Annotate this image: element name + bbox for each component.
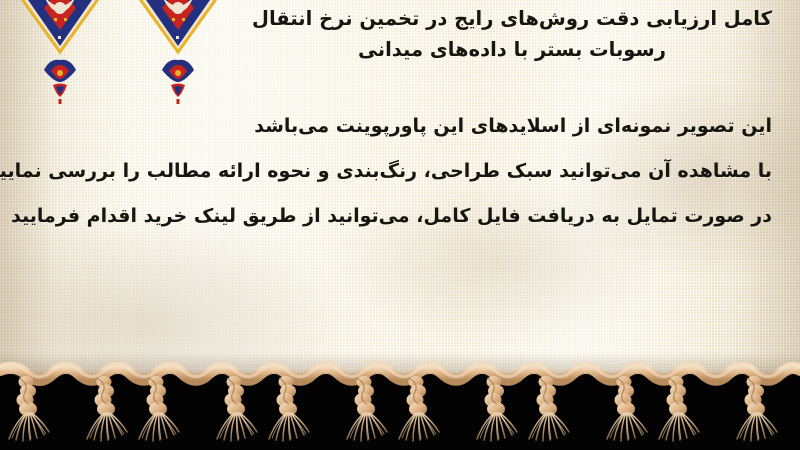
presentation-slide: کامل ارزیابی دقت روش‌های رایج در تخمین ن… bbox=[0, 0, 800, 450]
body-line-3: در صورت تمایل به دریافت فایل کامل، می‌تو… bbox=[28, 194, 772, 239]
slide-title: کامل ارزیابی دقت روش‌های رایج در تخمین ن… bbox=[252, 4, 772, 66]
slide-body: این تصویر نمونه‌ای از اسلایدهای این پاور… bbox=[28, 104, 772, 240]
body-line-1: این تصویر نمونه‌ای از اسلایدهای این پاور… bbox=[28, 104, 772, 149]
body-line-2: با مشاهده آن می‌توانید سبک طراحی، رنگ‌بن… bbox=[28, 149, 772, 194]
title-line-2: رسوبات بستر با داده‌های میدانی bbox=[252, 35, 772, 66]
title-line-1: کامل ارزیابی دقت روش‌های رایج در تخمین ن… bbox=[252, 4, 772, 35]
black-bottom-band bbox=[0, 374, 800, 450]
